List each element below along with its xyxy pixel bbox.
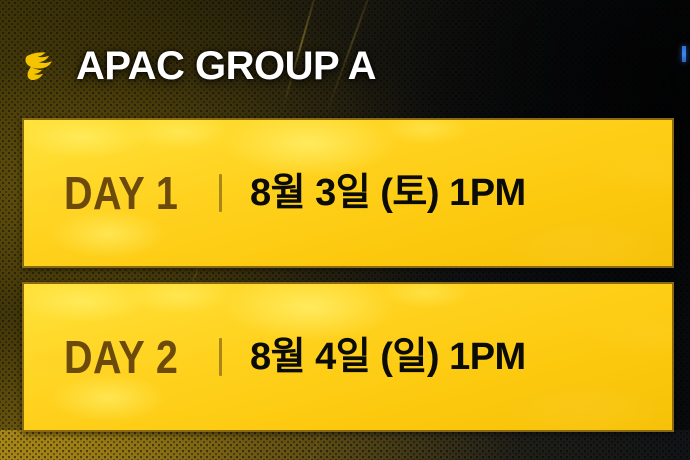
flame-logo-icon [18, 44, 62, 88]
bottom-gold-band [0, 430, 690, 460]
day-label: DAY 1 [64, 170, 178, 216]
poster-canvas: APAC GROUP A DAY 1 8월 3일 (토) 1PM DAY 2 8… [0, 0, 690, 460]
header: APAC GROUP A [18, 44, 376, 88]
banner-content: DAY 1 8월 3일 (토) 1PM [24, 170, 672, 216]
blue-edge-accent [682, 46, 686, 62]
schedule-banner-day-2[interactable]: DAY 2 8월 4일 (일) 1PM [22, 282, 674, 432]
page-title: APAC GROUP A [76, 46, 376, 86]
schedule-banner-day-1[interactable]: DAY 1 8월 3일 (토) 1PM [22, 118, 674, 268]
label-date-divider [219, 338, 222, 376]
day-label: DAY 2 [64, 334, 178, 380]
banner-content: DAY 2 8월 4일 (일) 1PM [24, 334, 672, 380]
date-time-text: 8월 3일 (토) 1PM [250, 174, 526, 212]
date-time-text: 8월 4일 (일) 1PM [250, 338, 526, 376]
label-date-divider [219, 174, 222, 212]
bottom-band-dot-texture [0, 430, 690, 460]
